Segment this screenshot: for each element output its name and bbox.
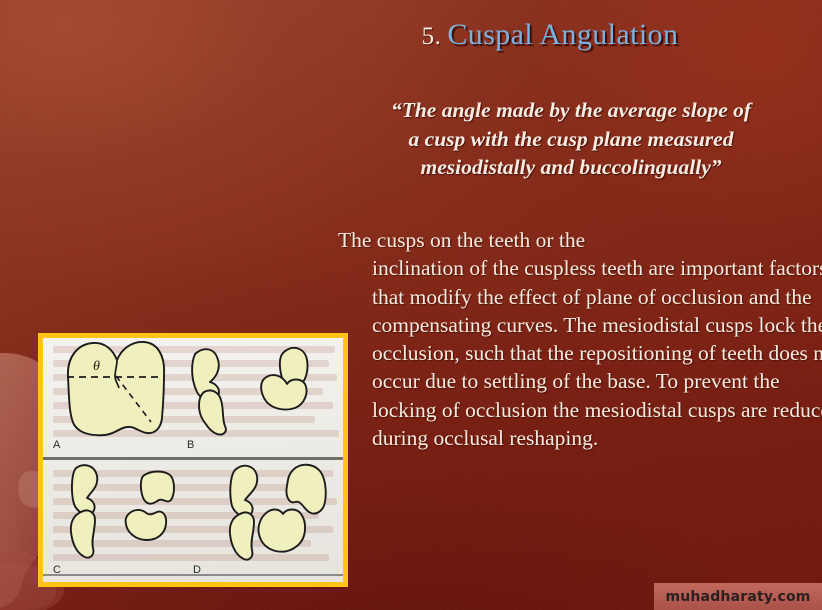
panel-label-b: B	[187, 439, 194, 451]
slide-title: 5.Cuspal Angulation	[300, 18, 800, 52]
figure-bottom-edge	[43, 574, 343, 576]
watermark-text: muhadharaty.com	[665, 589, 810, 605]
figure-scan-background: θ A B	[43, 338, 343, 582]
body-rest: inclination of the cuspless teeth are im…	[372, 256, 822, 450]
cusp-figure-panel: θ A B	[38, 333, 348, 587]
watermark-bar: muhadharaty.com	[654, 583, 822, 610]
panel-b-cusps-left	[192, 349, 226, 434]
definition-quote: “The angle made by the average slope of …	[336, 96, 806, 182]
panel-label-a: A	[53, 439, 60, 451]
quote-line-3: mesiodistally and buccolingually”	[336, 153, 806, 182]
panel-a-tooth: θ	[67, 342, 165, 435]
quote-line-1: “The angle made by the average slope of	[336, 96, 806, 125]
panel-d-cusps-left	[230, 466, 257, 560]
panel-d-cusps-right	[258, 465, 325, 552]
title-text: Cuspal Angulation	[447, 18, 678, 51]
panel-c-cusps-right	[126, 472, 174, 541]
panel-c-cusps-left	[71, 465, 97, 557]
body-first-line: The cusps on the teeth or the	[338, 226, 822, 254]
panel-b-cusps-right	[261, 348, 307, 410]
body-paragraph: The cusps on the teeth or theinclination…	[338, 226, 822, 452]
slide-canvas: 5.Cuspal Angulation “The angle made by t…	[0, 0, 822, 610]
svg-text:θ: θ	[93, 359, 100, 374]
title-number: 5.	[422, 23, 442, 50]
quote-line-2: a cusp with the cusp plane measured	[336, 125, 806, 154]
